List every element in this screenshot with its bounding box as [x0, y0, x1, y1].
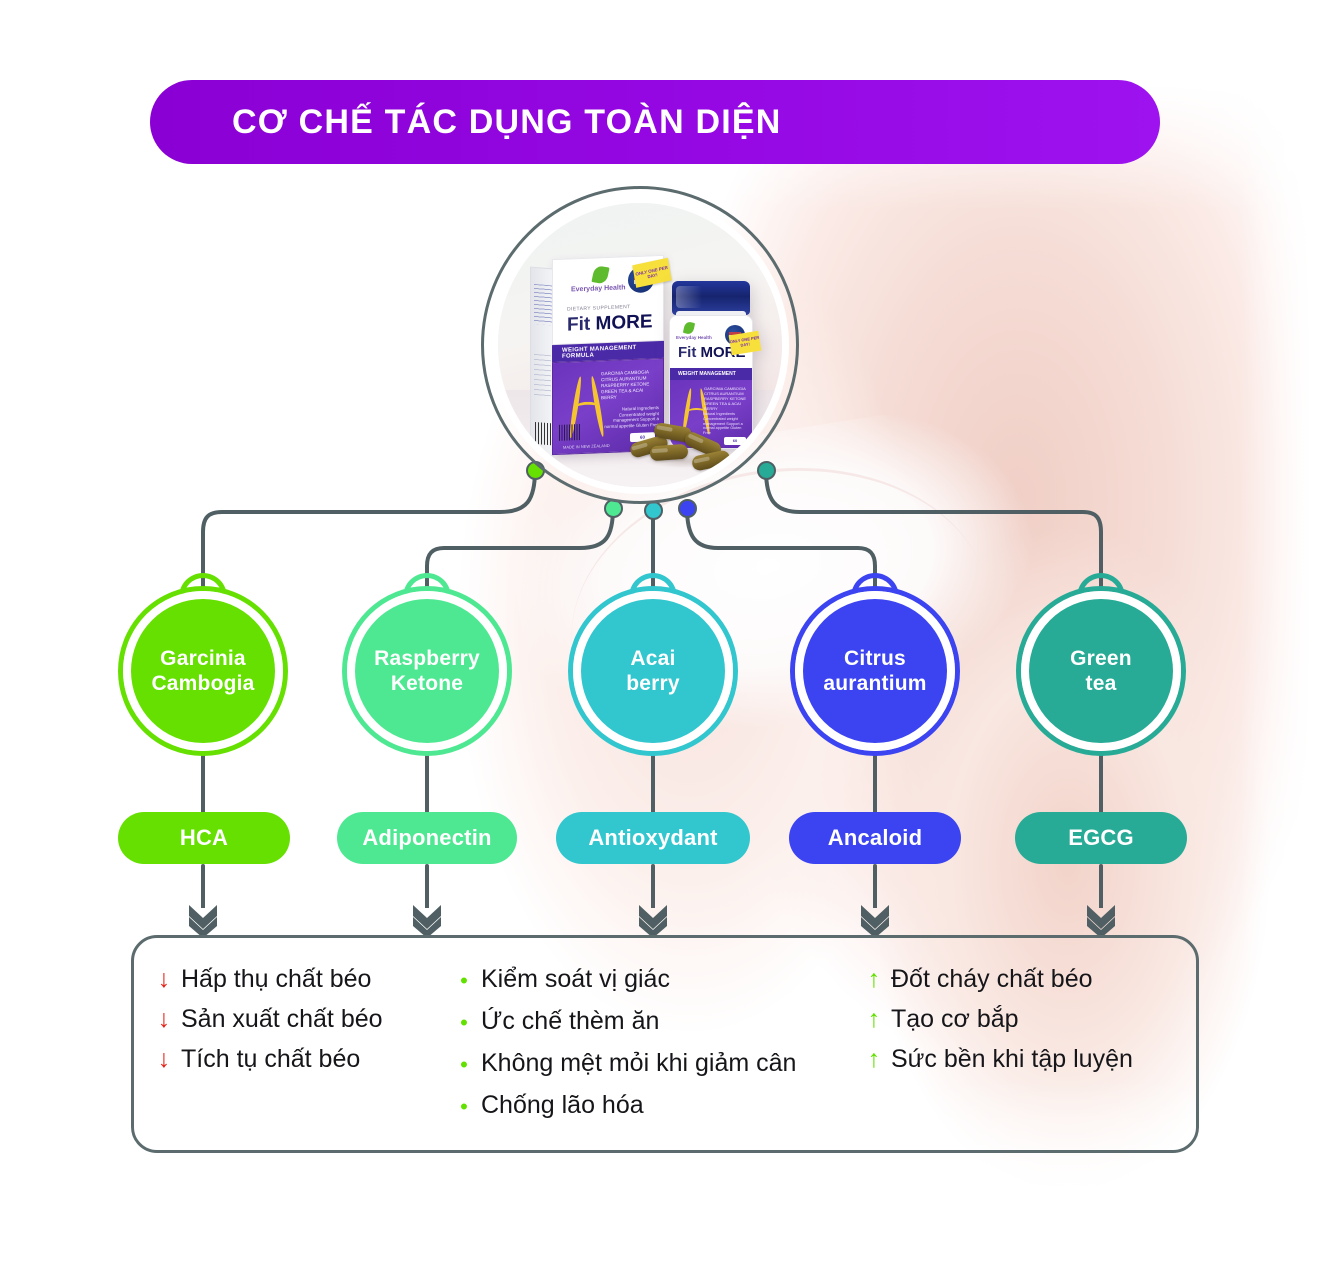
down-arrow-icon — [186, 892, 220, 938]
down-arrow-icon — [1084, 892, 1118, 938]
node-label: Acaiberry — [626, 646, 680, 696]
bottle-formula-band: WEIGHT MANAGEMENT FORMULA — [670, 368, 752, 380]
up-arrow-marker-icon: ↑ — [866, 964, 882, 995]
ingredient-node-green-tea[interactable]: Greentea — [1016, 586, 1186, 756]
benefit-item: ↑ Sức bền khi tập luyện — [866, 1044, 1196, 1075]
bottle-ingredients-text: GARCINIA CAMBOGIA CITRUS AURANTIUM RASPB… — [704, 386, 748, 411]
product-barcode-icon — [559, 424, 581, 441]
benefit-text: Sức bền khi tập luyện — [891, 1044, 1133, 1075]
ingredient-node-raspberry-ketone[interactable]: RaspberryKetone — [342, 586, 512, 756]
leaf-logo-icon-bottle — [683, 321, 695, 335]
node-label: RaspberryKetone — [374, 646, 480, 696]
benefit-item: • Không mệt mỏi khi giảm cân — [456, 1048, 866, 1081]
benefit-item: ↓ Sản xuất chất béo — [156, 1004, 456, 1035]
compound-label: EGCG — [1068, 825, 1134, 851]
down-arrow-icon — [410, 892, 444, 938]
bullet-dot-icon: • — [456, 1048, 472, 1081]
product-formula-text: WEIGHT MANAGEMENT FORMULA — [562, 343, 664, 359]
benefits-column-2: • Kiểm soát vị giác • Ức chế thèm ăn • K… — [456, 964, 866, 1150]
compound-label: HCA — [180, 825, 228, 851]
benefit-item: ↓ Tích tụ chất béo — [156, 1044, 456, 1075]
bottle-promo-tag-text: ONLY ONE PER DAY! — [729, 336, 760, 350]
product-brand-name: Fit MORE — [567, 311, 653, 336]
node-label: Greentea — [1070, 646, 1132, 696]
up-arrow-marker-icon: ↑ — [866, 1004, 882, 1035]
box-side-barcode-icon — [535, 422, 551, 445]
compound-pill-adiponectin[interactable]: Adiponectin — [337, 812, 517, 864]
down-arrow-icon — [858, 892, 892, 938]
benefits-column-1: ↓ Hấp thụ chất béo ↓ Sản xuất chất béo ↓… — [156, 964, 456, 1150]
bullet-dot-icon: • — [456, 1090, 472, 1123]
benefit-item: ↓ Hấp thụ chất béo — [156, 964, 456, 995]
bullet-dot-icon: • — [456, 964, 472, 997]
compound-pill-ancaloid[interactable]: Ancaloid — [789, 812, 961, 864]
capsule — [650, 444, 689, 462]
brand-logo-text: Everyday Health — [571, 284, 625, 293]
up-arrow-marker-icon: ↑ — [866, 1044, 882, 1075]
benefit-text: Không mệt mỏi khi giảm cân — [481, 1048, 796, 1079]
bottle-cap — [672, 281, 750, 315]
benefit-item: ↑ Tạo cơ bắp — [866, 1004, 1196, 1035]
infographic-canvas: CƠ CHẾ TÁC DỤNG TOÀN DIỆN — [0, 0, 1330, 1265]
node-disc: Citrusaurantium — [803, 599, 947, 743]
benefit-item: • Kiểm soát vị giác — [456, 964, 866, 997]
node-disc: GarciniaCambogia — [131, 599, 275, 743]
bottle-brand-logo-text: Everyday Health — [676, 335, 712, 340]
product-hub: Everyday Health DIETARY SUPPLEMENT Fit M… — [481, 186, 799, 504]
product-capsules — [628, 421, 748, 477]
leaf-logo-icon — [591, 265, 609, 284]
benefit-text: Tích tụ chất béo — [181, 1044, 360, 1075]
benefit-item: ↑ Đốt cháy chất béo — [866, 964, 1196, 995]
benefit-text: Đốt cháy chất béo — [891, 964, 1093, 995]
compound-label: Adiponectin — [362, 825, 491, 851]
benefit-text: Ức chế thèm ăn — [481, 1006, 659, 1037]
node-disc: Acaiberry — [581, 599, 725, 743]
product-descriptor: DIETARY SUPPLEMENT — [567, 304, 631, 312]
benefit-item: • Chống lão hóa — [456, 1090, 866, 1123]
ingredient-node-acai-berry[interactable]: Acaiberry — [568, 586, 738, 756]
ingredient-node-citrus-aurantium[interactable]: Citrusaurantium — [790, 586, 960, 756]
down-arrow-marker-icon: ↓ — [156, 964, 172, 995]
bullet-dot-icon: • — [456, 1006, 472, 1039]
down-arrow-icon — [636, 892, 670, 938]
benefit-text: Kiểm soát vị giác — [481, 964, 670, 995]
compound-pill-antioxydant[interactable]: Antioxydant — [556, 812, 750, 864]
product-ingredients-text: GARCINIA CAMBOGIA CITRUS AURANTIUM RASPB… — [601, 369, 657, 401]
benefit-text: Chống lão hóa — [481, 1090, 644, 1121]
compound-label: Ancaloid — [828, 825, 923, 851]
benefit-text: Tạo cơ bắp — [891, 1004, 1019, 1035]
box-side-table — [534, 284, 552, 326]
down-arrow-marker-icon: ↓ — [156, 1044, 172, 1075]
down-arrow-marker-icon: ↓ — [156, 1004, 172, 1035]
node-label: Citrusaurantium — [823, 646, 926, 696]
hub-product-photo: Everyday Health DIETARY SUPPLEMENT Fit M… — [491, 196, 789, 494]
product-promo-tag-text: ONLY ONE PER DAY! — [633, 264, 670, 281]
ingredient-node-garcinia-cambogia[interactable]: GarciniaCambogia — [118, 586, 288, 756]
node-disc: Greentea — [1029, 599, 1173, 743]
product-box-side-panel — [530, 267, 554, 457]
compound-label: Antioxydant — [588, 825, 717, 851]
benefit-text: Hấp thụ chất béo — [181, 964, 371, 995]
node-disc: RaspberryKetone — [355, 599, 499, 743]
compound-pill-egcg[interactable]: EGCG — [1015, 812, 1187, 864]
product-origin-text: MADE IN NEW ZEALAND — [563, 443, 610, 450]
benefit-item: • Ức chế thèm ăn — [456, 1006, 866, 1039]
box-side-text — [534, 354, 551, 399]
benefits-panel: ↓ Hấp thụ chất béo ↓ Sản xuất chất béo ↓… — [131, 935, 1199, 1153]
node-label: GarciniaCambogia — [151, 646, 254, 696]
compound-pill-hca[interactable]: HCA — [118, 812, 290, 864]
benefits-column-3: ↑ Đốt cháy chất béo ↑ Tạo cơ bắp ↑ Sức b… — [866, 964, 1196, 1150]
benefit-text: Sản xuất chất béo — [181, 1004, 383, 1035]
